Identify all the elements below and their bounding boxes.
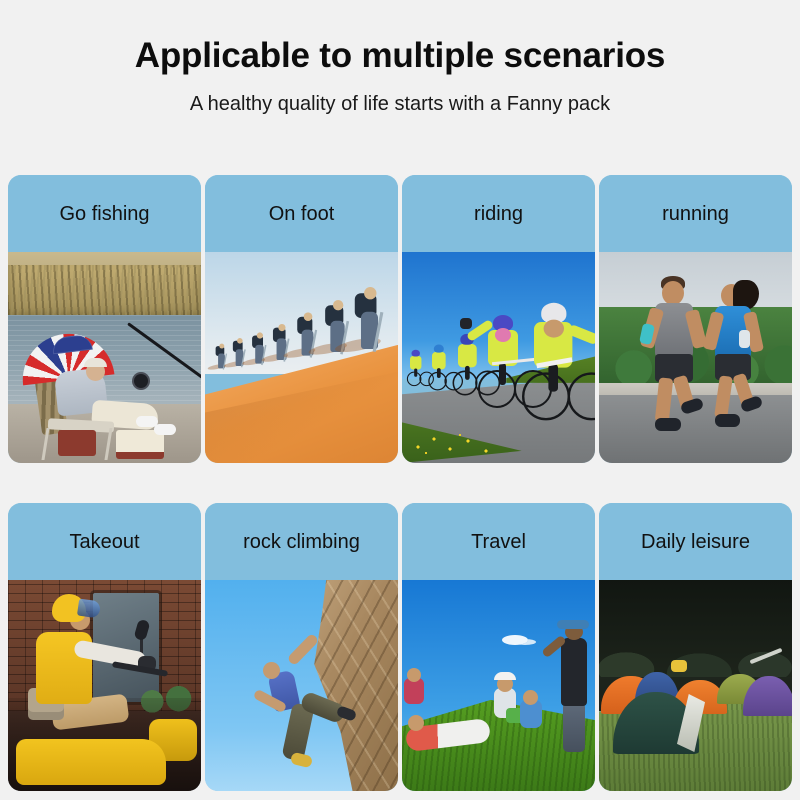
- delivery-scene-icon: [8, 580, 201, 791]
- cycling-scene-icon: [402, 252, 595, 463]
- fishing-scene-icon: [8, 252, 201, 463]
- promo-page: Applicable to multiple scenarios A healt…: [0, 0, 800, 800]
- scenario-label: Travel: [402, 503, 595, 580]
- scenario-label: running: [599, 175, 792, 252]
- scenario-label: rock climbing: [205, 503, 398, 580]
- running-scene-icon: [599, 252, 792, 463]
- scenario-label: Go fishing: [8, 175, 201, 252]
- scenario-row-2: Takeout: [8, 503, 792, 791]
- scenario-card-travel[interactable]: Travel: [402, 503, 595, 791]
- page-title: Applicable to multiple scenarios: [0, 36, 800, 76]
- scenario-card-takeout[interactable]: Takeout: [8, 503, 201, 791]
- scenario-card-rock-climbing[interactable]: rock climbing: [205, 503, 398, 791]
- scenario-card-go-fishing[interactable]: Go fishing: [8, 175, 201, 463]
- scenario-label: On foot: [205, 175, 398, 252]
- page-subtitle: A healthy quality of life starts with a …: [0, 76, 800, 116]
- scenario-card-on-foot[interactable]: On foot: [205, 175, 398, 463]
- scenario-row-1: Go fishing: [8, 175, 792, 463]
- hiking-scene-icon: [205, 252, 398, 463]
- climbing-scene-icon: [205, 580, 398, 791]
- camping-scene-icon: [599, 580, 792, 791]
- scenario-label: Daily leisure: [599, 503, 792, 580]
- scenario-grid: Go fishing: [8, 175, 792, 791]
- scenario-label: riding: [402, 175, 595, 252]
- travel-scene-icon: [402, 580, 595, 791]
- scenario-label: Takeout: [8, 503, 201, 580]
- scenario-card-running[interactable]: running: [599, 175, 792, 463]
- scenario-card-riding[interactable]: riding: [402, 175, 595, 463]
- scenario-card-daily-leisure[interactable]: Daily leisure: [599, 503, 792, 791]
- header: Applicable to multiple scenarios A healt…: [0, 0, 800, 116]
